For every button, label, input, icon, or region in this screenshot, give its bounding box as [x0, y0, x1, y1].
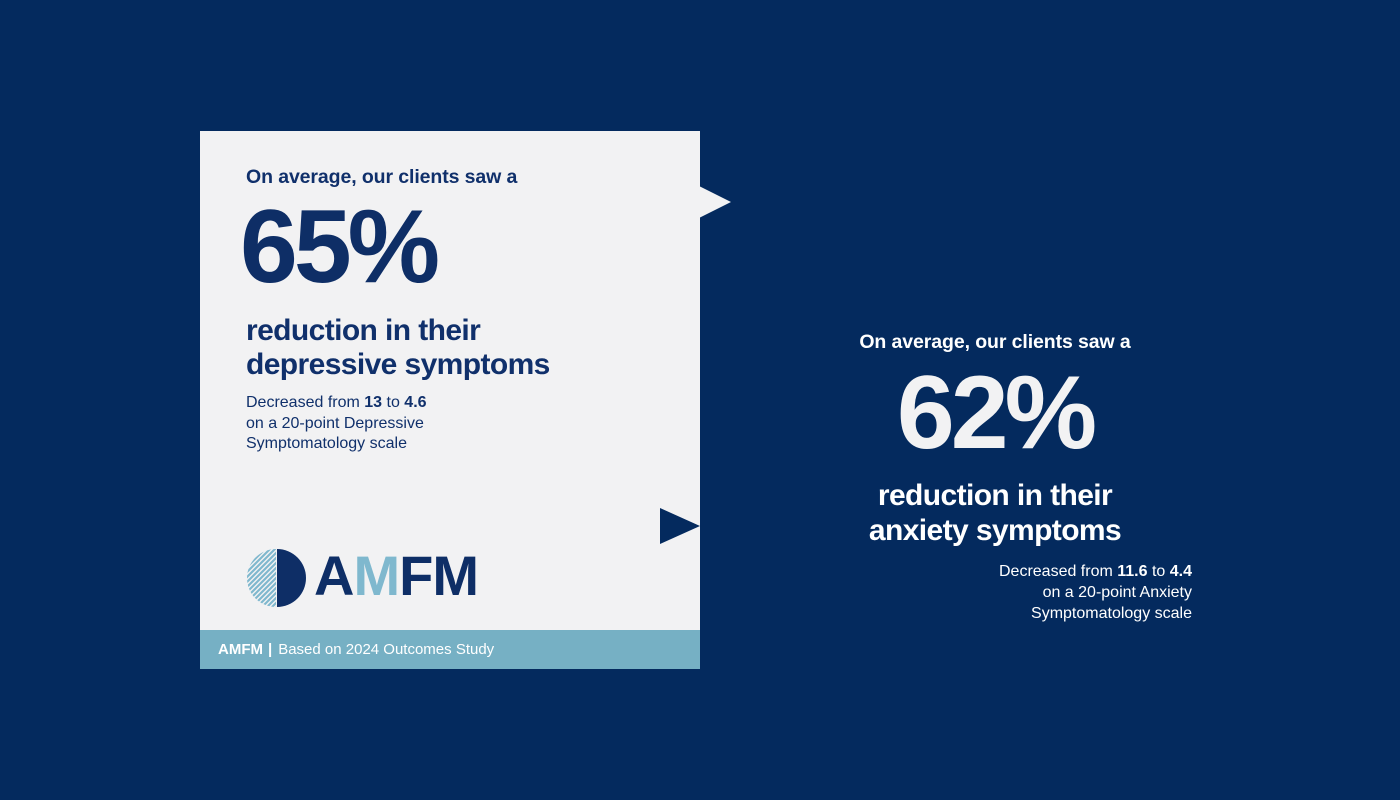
anxiety-kicker: On average, our clients saw a [760, 330, 1230, 355]
depression-card-content: On average, our clients saw a 65% reduct… [246, 165, 680, 455]
amfm-wordmark-m: M [353, 544, 399, 607]
depression-subnote: Decreased from 13 to 4.6 on a 20-point D… [246, 393, 680, 454]
depression-kicker: On average, our clients saw a [246, 165, 680, 190]
anxiety-headline-line2: anxiety symptoms [760, 514, 1230, 549]
anxiety-from-value: 11.6 [1117, 563, 1147, 580]
anxiety-subnote-line2: on a 20-point Anxiety [1043, 584, 1192, 601]
anxiety-subnote-prefix: Decreased from [999, 563, 1117, 580]
speech-bubble-notch-bottom [660, 508, 700, 544]
amfm-wordmark-a: A [314, 544, 353, 607]
depression-subnote-line2: on a 20-point Depressive [246, 415, 424, 432]
anxiety-to-value: 4.4 [1170, 563, 1192, 580]
infographic-canvas: On average, our clients saw a 65% reduct… [0, 0, 1400, 800]
anxiety-subnote-middle: to [1148, 563, 1170, 580]
amfm-wordmark-fm: FM [399, 544, 478, 607]
amfm-logo: AMFM [246, 548, 478, 608]
footer-divider: | [268, 641, 272, 658]
anxiety-subnote: Decreased from 11.6 to 4.4 on a 20-point… [760, 562, 1230, 624]
depression-subnote-middle: to [382, 394, 404, 411]
depression-headline-line2: depressive symptoms [246, 348, 680, 382]
anxiety-subnote-line3: Symptomatology scale [1031, 605, 1192, 622]
amfm-wordmark: AMFM [314, 548, 478, 604]
depression-big-percentage: 65% [240, 198, 680, 298]
anxiety-big-percentage: 62% [760, 361, 1230, 465]
depression-subnote-prefix: Decreased from [246, 394, 364, 411]
depression-to-value: 4.6 [404, 394, 426, 411]
depression-from-value: 13 [364, 394, 382, 411]
anxiety-headline: reduction in their anxiety symptoms [760, 479, 1230, 548]
amfm-circle-mark-icon [246, 548, 306, 608]
speech-bubble-tail-top [699, 186, 731, 218]
anxiety-stat-panel: On average, our clients saw a 62% reduct… [760, 330, 1230, 625]
footer-study-label: Based on 2024 Outcomes Study [278, 641, 494, 658]
source-footer-bar: AMFM|Based on 2024 Outcomes Study [200, 630, 700, 669]
depression-headline-line1: reduction in their [246, 314, 680, 348]
depression-headline: reduction in their depressive symptoms [246, 314, 680, 381]
source-footer-text: AMFM|Based on 2024 Outcomes Study [218, 641, 494, 658]
depression-subnote-line3: Symptomatology scale [246, 435, 407, 452]
anxiety-headline-line1: reduction in their [760, 479, 1230, 514]
footer-brand: AMFM [218, 641, 263, 658]
